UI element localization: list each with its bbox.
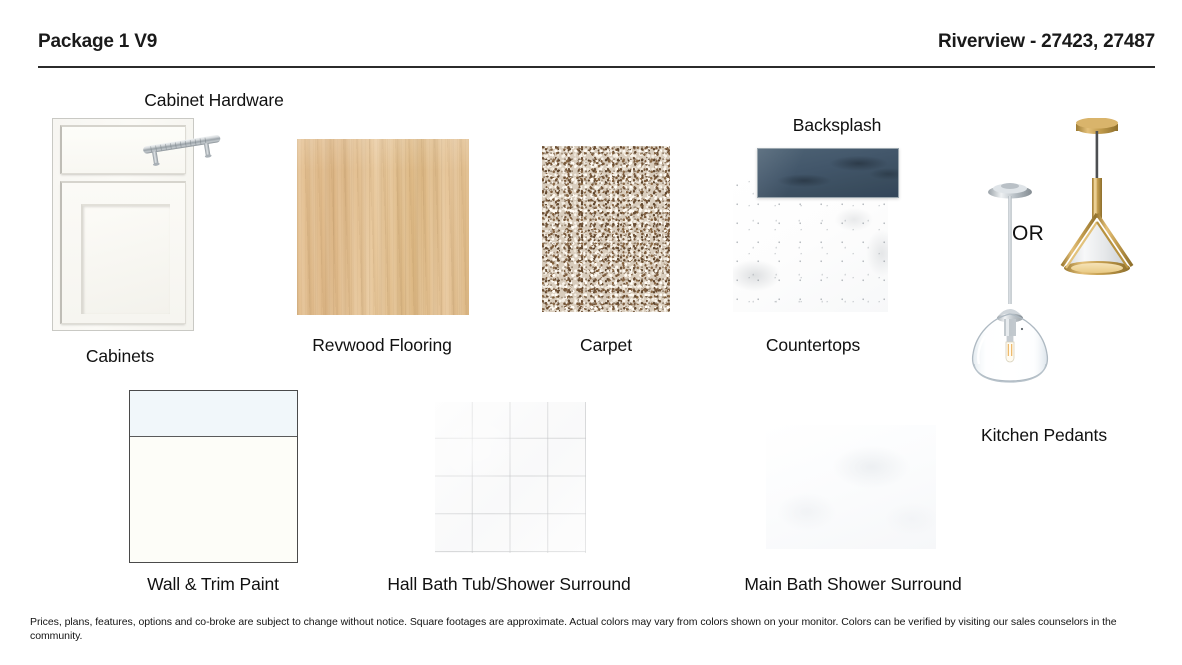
kitchen-pendants-label: Kitchen Pedants [981, 425, 1107, 446]
cabinet-drawer-front [60, 125, 186, 174]
carpet-label: Carpet [580, 335, 632, 356]
header-divider [38, 66, 1155, 68]
brass-cone-pendant-icon [1038, 118, 1156, 288]
revwood-flooring-swatch [297, 139, 469, 315]
revwood-flooring-label: Revwood Flooring [312, 335, 451, 356]
backsplash-label: Backsplash [793, 115, 882, 136]
hall-bath-surround-swatch [435, 402, 586, 553]
community-name: Riverview - 27423, 27487 [938, 31, 1155, 53]
main-bath-surround-label: Main Bath Shower Surround [744, 574, 961, 595]
hall-bath-surround-label: Hall Bath Tub/Shower Surround [387, 574, 630, 595]
main-bath-surround-swatch [766, 425, 936, 549]
wall-trim-paint-swatch [129, 390, 298, 563]
carpet-swatch [542, 146, 670, 312]
backsplash-swatch [757, 148, 899, 198]
paint-main-band [130, 437, 297, 562]
cabinet-hardware-label: Cabinet Hardware [144, 90, 283, 111]
paint-accent-band [130, 391, 297, 437]
cabinets-swatch [52, 118, 194, 331]
countertops-label: Countertops [766, 335, 860, 356]
package-title: Package 1 V9 [38, 31, 157, 53]
disclaimer-text: Prices, plans, features, options and co-… [30, 615, 1148, 643]
cabinet-door-panel [81, 204, 170, 314]
wall-trim-paint-label: Wall & Trim Paint [147, 574, 279, 595]
pendant-or-connector: OR [1012, 222, 1044, 246]
cabinets-label: Cabinets [86, 346, 154, 367]
cabinet-door-front [60, 181, 186, 324]
page-header: Package 1 V9 Riverview - 27423, 27487 [0, 0, 1182, 68]
